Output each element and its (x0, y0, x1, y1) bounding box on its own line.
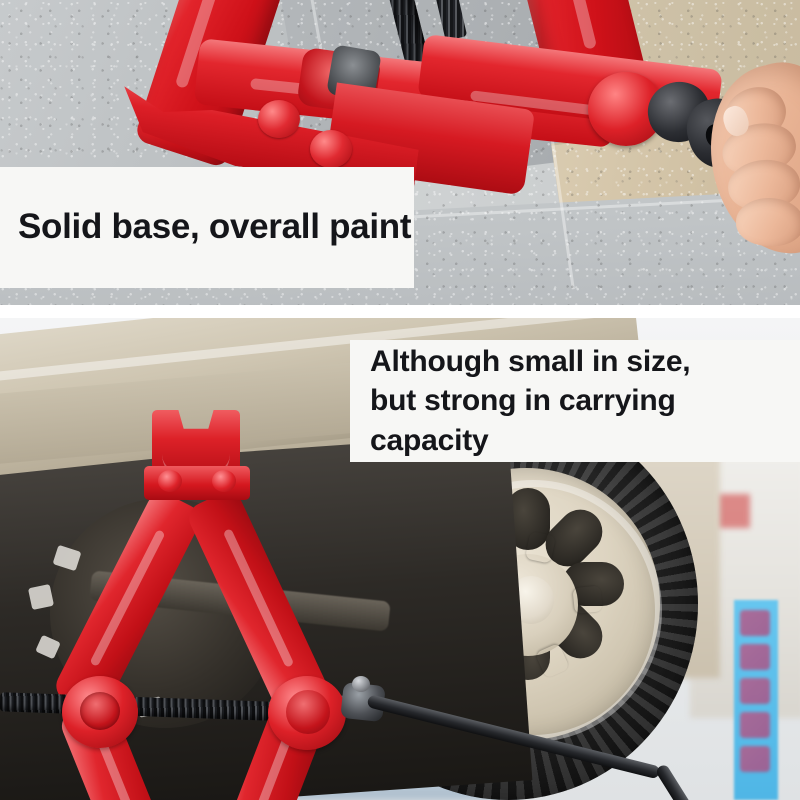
jack-right-pivot-cap (286, 690, 330, 734)
banner-character (740, 610, 770, 636)
panel-divider (0, 305, 800, 318)
underbody-highlight (28, 584, 54, 610)
base-rivet (310, 130, 352, 168)
banner-character (740, 712, 770, 738)
caption-line: but strong in carrying capacity (370, 381, 800, 460)
crank-pin (352, 676, 370, 692)
base-rivet (258, 100, 300, 138)
caption-box-solid-base: Solid base, overall paint (0, 167, 414, 288)
caption-line: Solid base, overall paint (18, 208, 414, 247)
head-rivet (158, 470, 182, 492)
caption-line: Although small in size, (370, 342, 800, 382)
caption-box-carrying-capacity: Although small in size, but strong in ca… (350, 340, 800, 462)
jack-left-pivot-cap (80, 692, 120, 730)
banner-character (740, 678, 770, 704)
banner-character (740, 644, 770, 670)
head-rivet (212, 470, 236, 492)
lug-nut (572, 585, 603, 614)
product-image-collage: Solid base, overall paint 2 8 5 (0, 0, 800, 800)
background-window (716, 494, 750, 528)
finger (735, 197, 800, 247)
banner-character (740, 746, 770, 772)
